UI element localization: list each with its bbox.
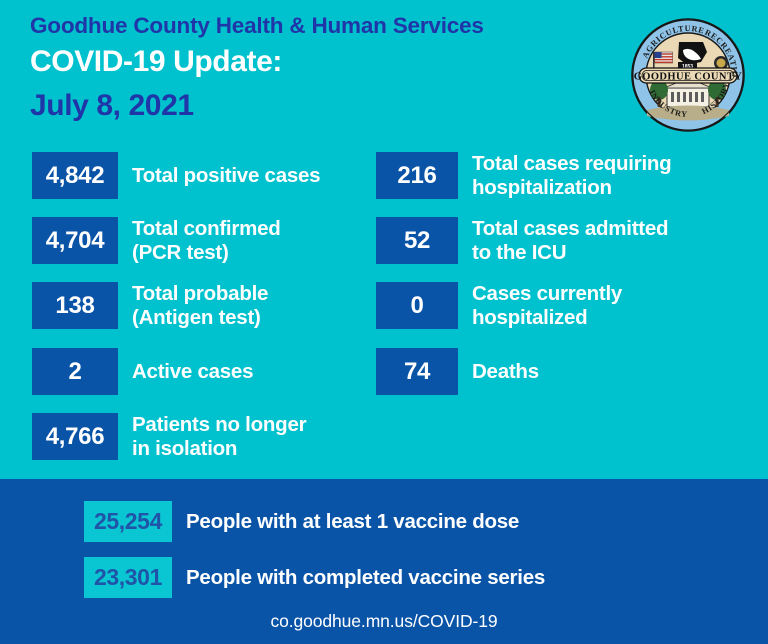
stat-value: 4,704 [32, 217, 118, 264]
svg-text:GOODHUE COUNTY: GOODHUE COUNTY [634, 71, 743, 82]
stats-section: 4,842 Total positive cases 4,704 Total c… [0, 140, 768, 479]
stat-label: Active cases [132, 360, 253, 383]
stat-label: Patients no longer in isolation [132, 413, 306, 459]
stat-row-total-positive-cases: 4,842 Total positive cases [32, 152, 320, 199]
stat-label: Total probable (Antigen test) [132, 282, 268, 328]
stat-row-total-cases-requiring-hospitalization: 216 Total cases requiring hospitalizatio… [376, 152, 671, 199]
footer-url[interactable]: co.goodhue.mn.us/COVID-19 [0, 611, 768, 632]
stat-value: 0 [376, 282, 458, 329]
stat-row-total-cases-admitted-to-icu: 52 Total cases admitted to the ICU [376, 217, 668, 264]
stat-value: 2 [32, 348, 118, 395]
stat-label: Cases currently hospitalized [472, 282, 622, 328]
organization-title: Goodhue County Health & Human Services [30, 13, 484, 39]
vaccine-label: People with completed vaccine series [186, 566, 545, 590]
vaccine-value: 25,254 [84, 501, 172, 542]
report-date: July 8, 2021 [30, 89, 194, 123]
stat-label: Total cases requiring hospitalization [472, 152, 671, 198]
stat-value: 138 [32, 282, 118, 329]
vaccine-value: 23,301 [84, 557, 172, 598]
stat-value: 74 [376, 348, 458, 395]
stat-label: Deaths [472, 360, 539, 383]
vaccine-row-completed-series: 23,301 People with completed vaccine ser… [84, 557, 545, 598]
stat-row-deaths: 74 Deaths [376, 348, 539, 395]
stat-row-cases-currently-hospitalized: 0 Cases currently hospitalized [376, 282, 622, 329]
stat-row-total-confirmed: 4,704 Total confirmed (PCR test) [32, 217, 281, 264]
page-title: COVID-19 Update: [30, 45, 282, 79]
stat-value: 216 [376, 152, 458, 199]
county-seal-icon: 1853 [631, 18, 745, 132]
stat-label: Total positive cases [132, 164, 320, 187]
stat-row-patients-no-longer-in-isolation: 4,766 Patients no longer in isolation [32, 413, 306, 460]
stat-label: Total confirmed (PCR test) [132, 217, 281, 263]
stat-value: 4,766 [32, 413, 118, 460]
stat-value: 4,842 [32, 152, 118, 199]
header: Goodhue County Health & Human Services C… [0, 0, 768, 140]
stat-row-active-cases: 2 Active cases [32, 348, 253, 395]
stat-value: 52 [376, 217, 458, 264]
vaccine-row-at-least-one-dose: 25,254 People with at least 1 vaccine do… [84, 501, 519, 542]
stat-label: Total cases admitted to the ICU [472, 217, 668, 263]
covid-update-infographic: Goodhue County Health & Human Services C… [0, 0, 768, 644]
vaccine-label: People with at least 1 vaccine dose [186, 510, 519, 534]
stat-row-total-probable: 138 Total probable (Antigen test) [32, 282, 268, 329]
